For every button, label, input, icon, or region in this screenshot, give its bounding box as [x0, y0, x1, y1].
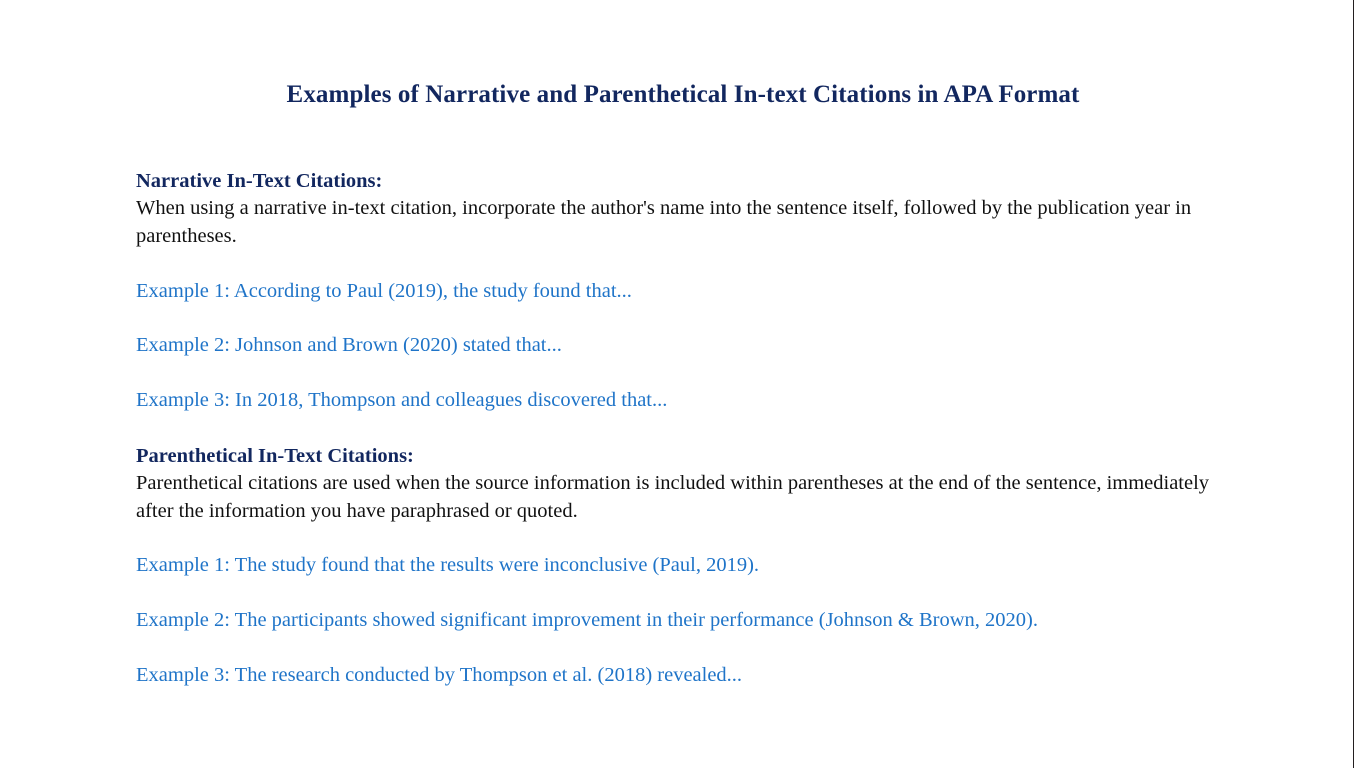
example-list-parenthetical: Example 1: The study found that the resu…: [136, 552, 1296, 689]
section-heading-parenthetical: Parenthetical In-Text Citations:: [136, 443, 1296, 470]
section-narrative: Narrative In-Text Citations: When using …: [136, 168, 1296, 415]
example-item: Example 2: The participants showed signi…: [136, 607, 1296, 635]
example-item: Example 3: In 2018, Thompson and colleag…: [136, 387, 1296, 415]
page-edge-line: [1353, 0, 1354, 768]
section-body-narrative: When using a narrative in-text citation,…: [136, 195, 1226, 250]
spacer: [136, 525, 1296, 552]
section-heading-narrative: Narrative In-Text Citations:: [136, 168, 1296, 195]
spacer: [136, 580, 1296, 607]
spacer: [136, 251, 1296, 278]
spacer: [136, 635, 1296, 662]
example-item: Example 2: Johnson and Brown (2020) stat…: [136, 332, 1296, 360]
example-item: Example 1: According to Paul (2019), the…: [136, 278, 1296, 306]
spacer: [136, 360, 1296, 387]
spacer: [136, 305, 1296, 332]
page-title: Examples of Narrative and Parenthetical …: [0, 81, 1366, 110]
spacer: [136, 415, 1296, 443]
document-content: Narrative In-Text Citations: When using …: [136, 168, 1296, 689]
example-item: Example 1: The study found that the resu…: [136, 552, 1296, 580]
document-page: Examples of Narrative and Parenthetical …: [0, 0, 1366, 768]
section-parenthetical: Parenthetical In-Text Citations: Parenth…: [136, 443, 1296, 690]
example-list-narrative: Example 1: According to Paul (2019), the…: [136, 278, 1296, 415]
example-item: Example 3: The research conducted by Tho…: [136, 662, 1296, 690]
section-body-parenthetical: Parenthetical citations are used when th…: [136, 470, 1221, 525]
